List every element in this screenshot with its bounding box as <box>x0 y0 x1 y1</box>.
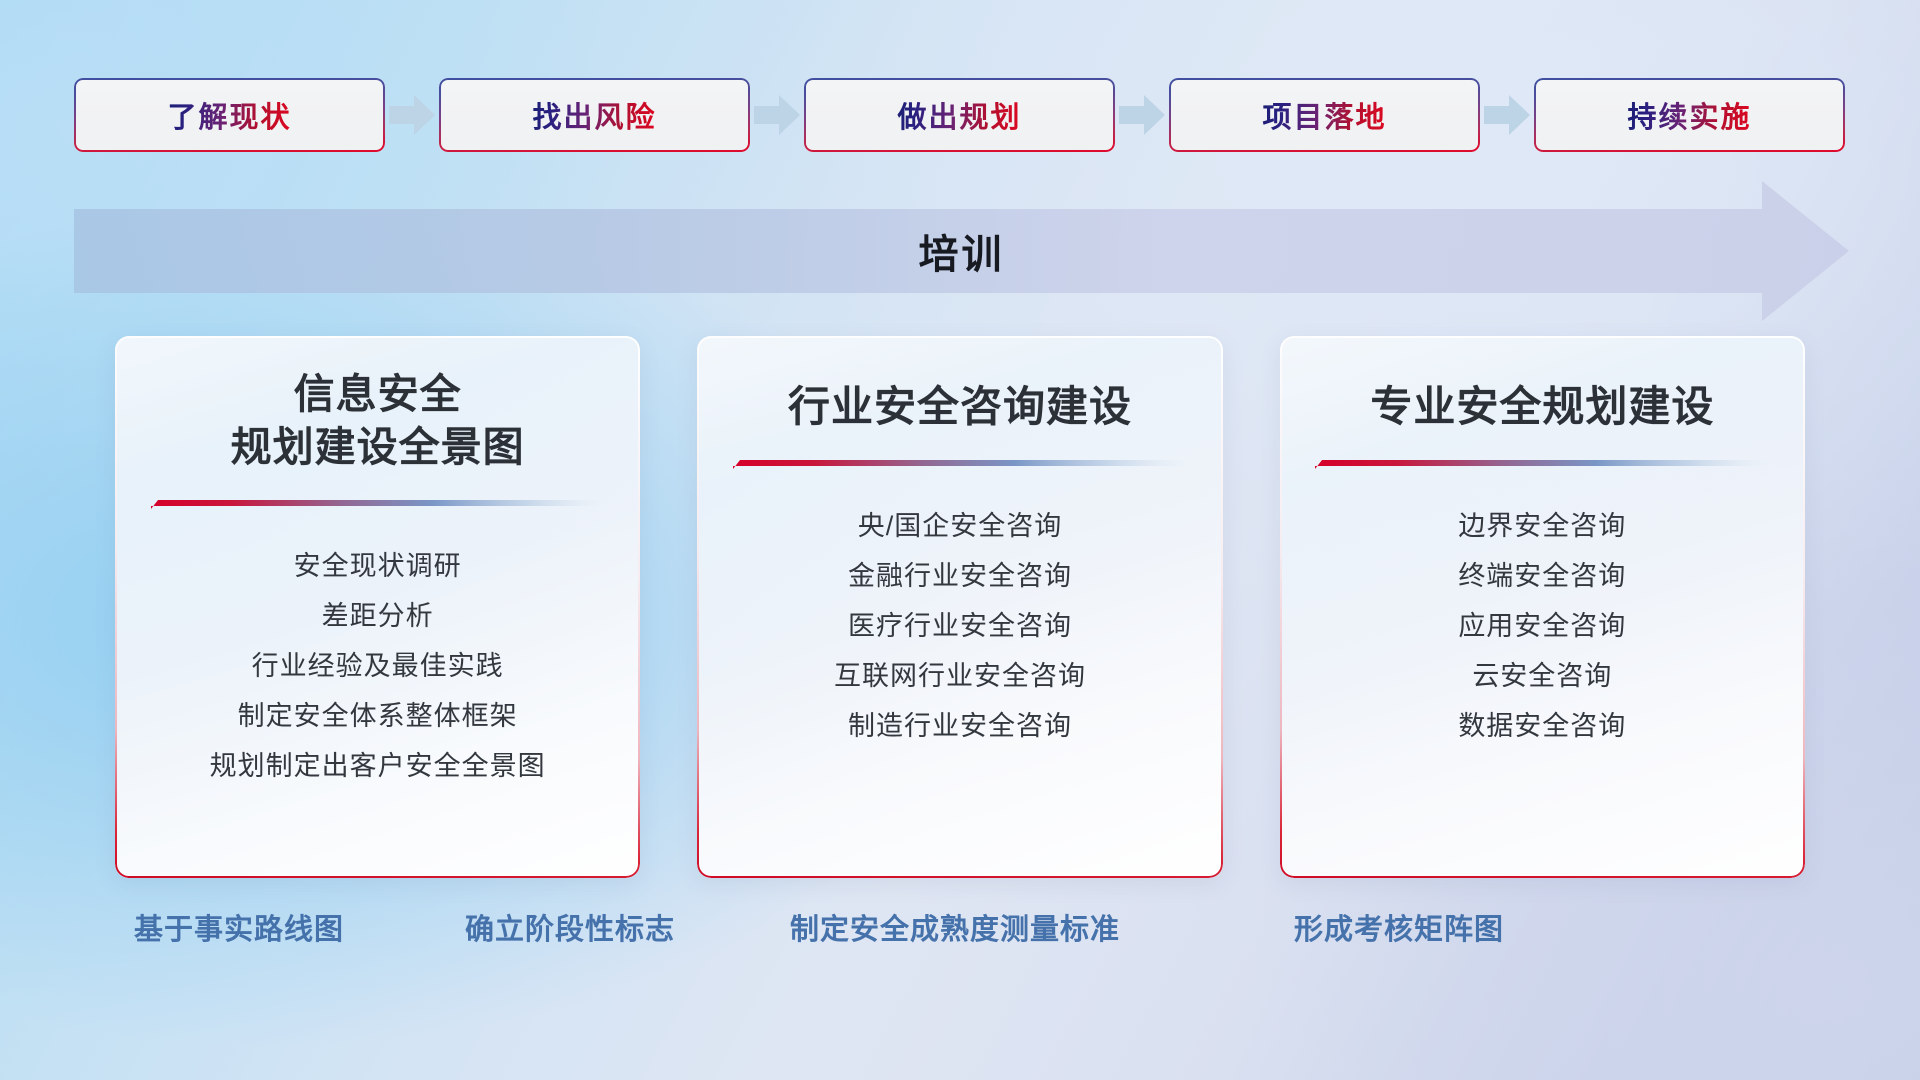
list-item: 制定安全体系整体框架 <box>115 691 640 741</box>
list-item: 终端安全咨询 <box>1280 551 1805 601</box>
card-item-list: 边界安全咨询 终端安全咨询 应用安全咨询 云安全咨询 数据安全咨询 <box>1280 501 1805 751</box>
card-divider <box>1315 457 1769 471</box>
step-label: 了解现状 <box>167 94 291 136</box>
arrow-right-icon <box>1480 78 1534 152</box>
list-item: 边界安全咨询 <box>1280 501 1805 551</box>
step-label: 持续实施 <box>1627 94 1751 136</box>
arrow-right-icon <box>1115 78 1169 152</box>
card-row: 信息安全 规划建设全景图 <box>115 336 1805 878</box>
card-title: 专业安全规划建设 <box>1350 380 1734 435</box>
list-item: 央/国企安全咨询 <box>697 501 1222 551</box>
caption-assessment-map: 形成考核矩阵图 <box>1294 906 1504 948</box>
caption-milestones: 确立阶段性标志 <box>465 906 675 948</box>
card-professional-security-planning[interactable]: 专业安全规划建设 <box>1280 336 1805 878</box>
step-box-3[interactable]: 做出规划 <box>804 78 1115 152</box>
caption-roadmap: 基于事实路线图 <box>134 906 344 948</box>
step-box-4[interactable]: 项目落地 <box>1169 78 1480 152</box>
list-item: 数据安全咨询 <box>1280 701 1805 751</box>
step-box-1[interactable]: 了解现状 <box>74 78 385 152</box>
step-label: 项目落地 <box>1262 94 1386 136</box>
list-item: 金融行业安全咨询 <box>697 551 1222 601</box>
card-divider <box>151 497 605 511</box>
card-title: 信息安全 规划建设全景图 <box>211 368 545 475</box>
slide-canvas: 了解现状 找出风险 做出规划 项目落地 <box>0 0 1920 1080</box>
caption-row: 基于事实路线图 确立阶段性标志 制定安全成熟度测量标准 形成考核矩阵图 <box>0 906 1920 958</box>
card-item-list: 央/国企安全咨询 金融行业安全咨询 医疗行业安全咨询 互联网行业安全咨询 制造行… <box>697 501 1222 751</box>
card-divider <box>733 457 1187 471</box>
list-item: 互联网行业安全咨询 <box>697 651 1222 701</box>
list-item: 制造行业安全咨询 <box>697 701 1222 751</box>
card-info-security-blueprint[interactable]: 信息安全 规划建设全景图 <box>115 336 640 878</box>
arrow-right-icon <box>750 78 804 152</box>
list-item: 医疗行业安全咨询 <box>697 601 1222 651</box>
card-industry-security-consulting[interactable]: 行业安全咨询建设 <box>697 336 1222 878</box>
list-item: 应用安全咨询 <box>1280 601 1805 651</box>
list-item: 行业经验及最佳实践 <box>115 641 640 691</box>
step-box-2[interactable]: 找出风险 <box>439 78 750 152</box>
training-banner-shape <box>74 181 1849 321</box>
list-item: 规划制定出客户安全全景图 <box>115 741 640 791</box>
list-item: 云安全咨询 <box>1280 651 1805 701</box>
list-item: 差距分析 <box>115 591 640 641</box>
step-label: 做出规划 <box>897 94 1021 136</box>
card-item-list: 安全现状调研 差距分析 行业经验及最佳实践 制定安全体系整体框架 规划制定出客户… <box>115 541 640 791</box>
list-item: 安全现状调研 <box>115 541 640 591</box>
card-title: 行业安全咨询建设 <box>768 380 1152 435</box>
process-step-row: 了解现状 找出风险 做出规划 项目落地 <box>74 78 1849 152</box>
caption-maturity-std: 制定安全成熟度测量标准 <box>790 906 1120 948</box>
arrow-right-icon <box>385 78 439 152</box>
step-box-5[interactable]: 持续实施 <box>1534 78 1845 152</box>
step-label: 找出风险 <box>532 94 656 136</box>
